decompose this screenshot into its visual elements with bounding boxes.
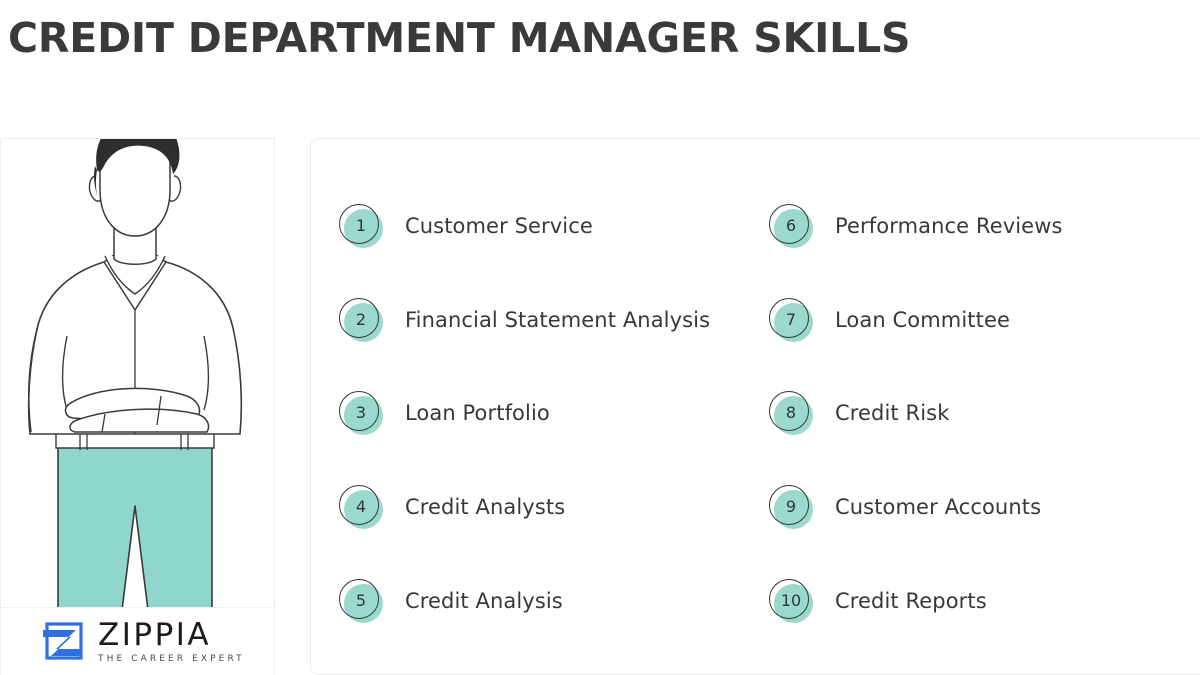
- skill-label: Credit Analysis: [405, 589, 563, 613]
- zippia-logo: ZIPPIA THE CAREER EXPERT: [1, 607, 275, 675]
- skill-number: 10: [781, 593, 801, 609]
- skill-number-badge: 8: [769, 391, 813, 435]
- skill-number: 7: [786, 312, 796, 328]
- skill-number: 4: [356, 499, 366, 515]
- skill-number: 9: [786, 499, 796, 515]
- skill-label: Credit Analysts: [405, 495, 565, 519]
- skill-number-badge: 6: [769, 204, 813, 248]
- skill-number-badge: 10: [769, 579, 813, 623]
- skill-number: 3: [356, 405, 366, 421]
- skill-number-badge: 3: [339, 391, 383, 435]
- skill-item[interactable]: 1 Customer Service: [339, 179, 769, 273]
- badge-ring: 9: [769, 485, 809, 525]
- skill-label: Credit Reports: [835, 589, 987, 613]
- page-title: CREDIT DEPARTMENT MANAGER SKILLS: [8, 14, 910, 62]
- skill-label: Customer Accounts: [835, 495, 1041, 519]
- zippia-wordmark: ZIPPIA: [98, 620, 245, 651]
- skill-item[interactable]: 4 Credit Analysts: [339, 460, 769, 554]
- skill-label: Credit Risk: [835, 401, 949, 425]
- skill-number-badge: 7: [769, 298, 813, 342]
- skill-number: 1: [356, 218, 366, 234]
- skill-label: Customer Service: [405, 214, 593, 238]
- skills-panel: 1 Customer Service 2 Financial Statement…: [310, 138, 1200, 675]
- badge-ring: 7: [769, 298, 809, 338]
- skill-item[interactable]: 9 Customer Accounts: [769, 460, 1200, 554]
- skills-grid: 1 Customer Service 2 Financial Statement…: [311, 139, 1200, 674]
- badge-ring: 2: [339, 298, 379, 338]
- skill-item[interactable]: 2 Financial Statement Analysis: [339, 273, 769, 367]
- businessman-illustration: [1, 138, 275, 634]
- skill-item[interactable]: 7 Loan Committee: [769, 273, 1200, 367]
- skill-number-badge: 4: [339, 485, 383, 529]
- skill-item[interactable]: 5 Credit Analysis: [339, 554, 769, 648]
- skill-number-badge: 5: [339, 579, 383, 623]
- zippia-tagline: THE CAREER EXPERT: [98, 655, 245, 664]
- illustration-panel: ZIPPIA THE CAREER EXPERT: [0, 138, 275, 675]
- skill-number-badge: 1: [339, 204, 383, 248]
- skill-number: 8: [786, 405, 796, 421]
- skill-item[interactable]: 3 Loan Portfolio: [339, 367, 769, 461]
- badge-ring: 10: [769, 579, 809, 619]
- skill-label: Financial Statement Analysis: [405, 308, 710, 332]
- skill-number: 2: [356, 312, 366, 328]
- skill-number-badge: 2: [339, 298, 383, 342]
- skill-label: Loan Portfolio: [405, 401, 550, 425]
- skill-number: 6: [786, 218, 796, 234]
- skill-item[interactable]: 6 Performance Reviews: [769, 179, 1200, 273]
- skill-item[interactable]: 8 Credit Risk: [769, 367, 1200, 461]
- badge-ring: 1: [339, 204, 379, 244]
- zippia-logo-mark-icon: [43, 621, 85, 663]
- badge-ring: 6: [769, 204, 809, 244]
- skill-label: Loan Committee: [835, 308, 1010, 332]
- badge-ring: 5: [339, 579, 379, 619]
- skill-item[interactable]: 10 Credit Reports: [769, 554, 1200, 648]
- skill-number-badge: 9: [769, 485, 813, 529]
- skill-label: Performance Reviews: [835, 214, 1063, 238]
- skill-number: 5: [356, 593, 366, 609]
- badge-ring: 4: [339, 485, 379, 525]
